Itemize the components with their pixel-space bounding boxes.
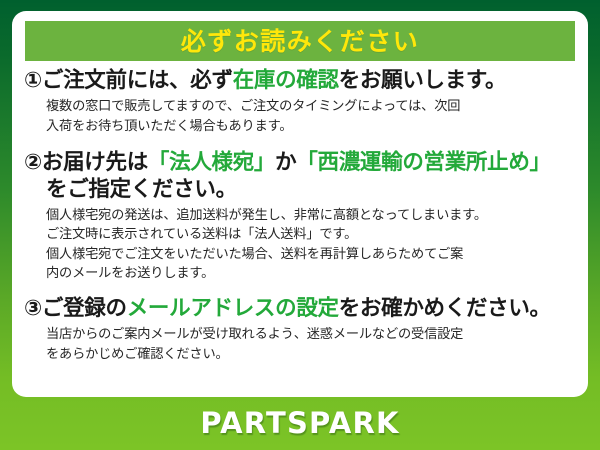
notice-item-2: ②お届け先は「法人様宛」か「西濃運輸の営業所止め」 をご指定ください。 個人様宅…	[12, 150, 588, 284]
item-2-body-line-3: 個人様宅宛でご注文をいただいた場合、送料を再計算しあらためてご案	[46, 245, 578, 265]
item-3-number-marker: ③	[24, 296, 42, 321]
notice-item-2-heading: ②お届け先は「法人様宛」か「西濃運輸の営業所止め」	[24, 150, 578, 176]
notice-card: 必ずお読みください ①ご注文前には、必ず在庫の確認をお願いします。 複数の窓口で…	[0, 0, 600, 450]
item-1-heading-highlight: 在庫の確認	[233, 68, 339, 93]
notice-item-3-heading: ③ご登録のメールアドレスの設定をお確かめください。	[24, 296, 578, 322]
notice-panel: 必ずお読みください ①ご注文前には、必ず在庫の確認をお願いします。 複数の窓口で…	[12, 11, 588, 397]
footer-brand-bar: PARTSPARK	[0, 397, 600, 450]
notice-item-2-body: 個人様宅宛の発送は、追加送料が発生し、非常に高額となってしまいます。 ご注文時に…	[24, 206, 578, 284]
notice-items-list: ①ご注文前には、必ず在庫の確認をお願いします。 複数の窓口で販売してますので、ご…	[12, 68, 588, 364]
notice-item-1-body: 複数の窓口で販売してますので、ご注文のタイミングによっては、次回 入荷をお待ち頂…	[24, 97, 578, 136]
notice-item-1: ①ご注文前には、必ず在庫の確認をお願いします。 複数の窓口で販売してますので、ご…	[12, 68, 588, 136]
header-title: 必ずお読みください	[181, 29, 420, 54]
notice-item-1-heading: ①ご注文前には、必ず在庫の確認をお願いします。	[24, 68, 578, 94]
item-1-body-line-1: 複数の窓口で販売してますので、ご注文のタイミングによっては、次回	[46, 97, 578, 117]
item-3-heading-highlight: メールアドレスの設定	[127, 296, 339, 321]
item-2-body-line-2: ご注文時に表示されている送料は「法人送料」です。	[46, 225, 578, 245]
item-2-heading-part-3: か	[275, 150, 296, 175]
item-2-heading-part-1: お届け先は	[42, 150, 148, 175]
item-2-heading-highlight-1: 「法人様宛」	[148, 150, 275, 175]
item-1-heading-part-3: をお願いします。	[339, 68, 506, 93]
item-2-body-line-4: 内のメールをお送りします。	[46, 264, 578, 284]
notice-item-3-body: 当店からのご案内メールが受け取れるよう、迷惑メールなどの受信設定 をあらかじめご…	[24, 325, 578, 364]
item-1-number-marker: ①	[24, 68, 42, 93]
brand-logo-text: PARTSPARK	[200, 409, 399, 438]
notice-item-3: ③ご登録のメールアドレスの設定をお確かめください。 当店からのご案内メールが受け…	[12, 296, 588, 364]
header-banner: 必ずお読みください	[25, 21, 575, 61]
item-3-heading-part-3: をお確かめください。	[339, 296, 551, 321]
item-3-heading-part-1: ご登録の	[42, 296, 127, 321]
item-3-body-line-1: 当店からのご案内メールが受け取れるよう、迷惑メールなどの受信設定	[46, 325, 578, 345]
item-2-heading-highlight-2: 「西濃運輸の営業所止め」	[296, 150, 550, 175]
item-3-body-line-2: をあらかじめご確認ください。	[46, 345, 578, 365]
notice-item-2-heading-line2: をご指定ください。	[24, 177, 578, 203]
item-2-body-line-1: 個人様宅宛の発送は、追加送料が発生し、非常に高額となってしまいます。	[46, 206, 578, 226]
item-1-body-line-2: 入荷をお待ち頂いただく場合もあります。	[46, 117, 578, 137]
item-2-number-marker: ②	[24, 150, 42, 175]
item-1-heading-part-1: ご注文前には、必ず	[42, 68, 233, 93]
